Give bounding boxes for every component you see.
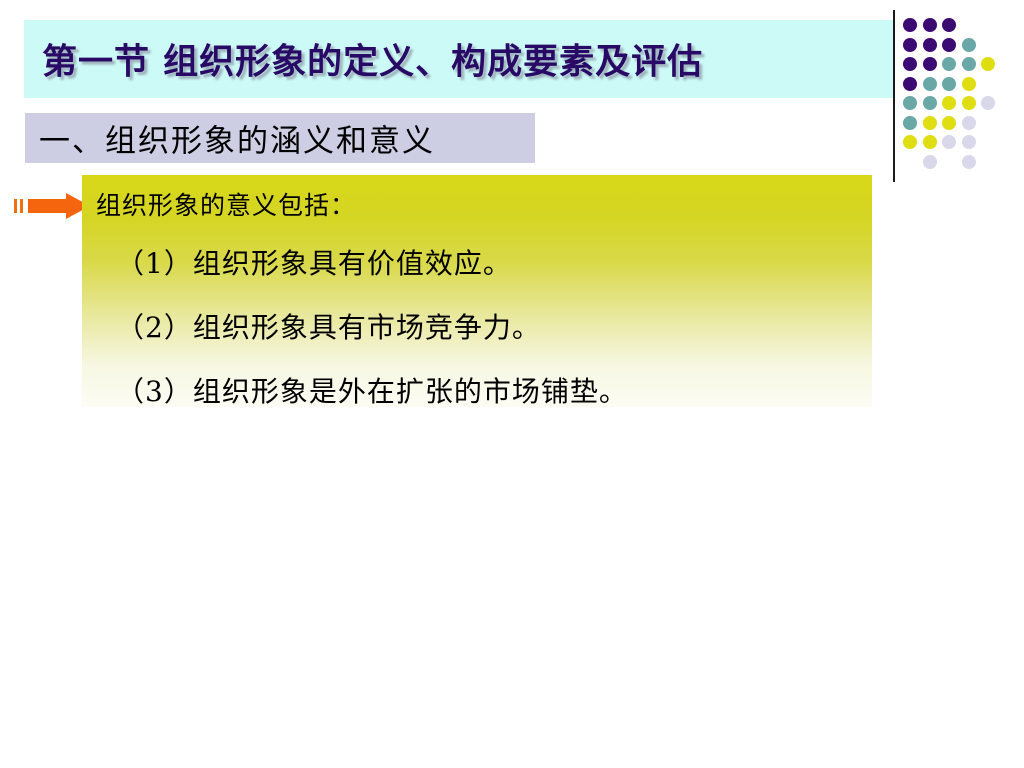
dot-lavender bbox=[962, 135, 976, 149]
orange-arrow-icon bbox=[14, 193, 90, 219]
dot-purple bbox=[903, 18, 917, 32]
dot-yellow bbox=[903, 135, 917, 149]
dot-teal bbox=[903, 96, 917, 110]
dot-lavender bbox=[981, 96, 995, 110]
title-band: 第一节 组织形象的定义、构成要素及评估 bbox=[24, 20, 893, 98]
dot-purple bbox=[903, 38, 917, 52]
dot-yellow bbox=[942, 96, 956, 110]
subtitle-chip: 一、组织形象的涵义和意义 bbox=[25, 113, 535, 163]
content-item-3: （3）组织形象是外在扩张的市场铺垫。 bbox=[96, 373, 872, 411]
dot-lavender bbox=[923, 155, 937, 169]
dot-yellow bbox=[962, 96, 976, 110]
dot-lavender bbox=[962, 155, 976, 169]
content-lines: 组织形象的意义包括： （1）组织形象具有价值效应。 （2）组织形象具有市场竞争力… bbox=[82, 175, 872, 407]
dot-yellow bbox=[942, 116, 956, 130]
dot-yellow bbox=[962, 77, 976, 91]
decorative-dot-grid bbox=[903, 18, 1018, 183]
dot-purple bbox=[923, 18, 937, 32]
dot-purple bbox=[903, 77, 917, 91]
dot-lavender bbox=[962, 116, 976, 130]
content-item-1: （1）组织形象具有价值效应。 bbox=[96, 245, 872, 283]
dot-yellow bbox=[923, 135, 937, 149]
content-panel: 组织形象的意义包括： （1）组织形象具有价值效应。 （2）组织形象具有市场竞争力… bbox=[82, 175, 872, 407]
dot-purple bbox=[903, 57, 917, 71]
dot-teal bbox=[942, 77, 956, 91]
dot-teal bbox=[923, 77, 937, 91]
dot-purple bbox=[942, 18, 956, 32]
content-item-2: （2）组织形象具有市场竞争力。 bbox=[96, 309, 872, 347]
dot-teal bbox=[923, 96, 937, 110]
dot-teal bbox=[942, 57, 956, 71]
dot-purple bbox=[923, 38, 937, 52]
vertical-divider bbox=[893, 10, 895, 182]
dot-purple bbox=[923, 57, 937, 71]
arrow-tick-2 bbox=[20, 199, 23, 213]
dot-yellow bbox=[981, 57, 995, 71]
section-subtitle: 一、组织形象的涵义和意义 bbox=[39, 116, 435, 161]
slide-canvas: 第一节 组织形象的定义、构成要素及评估 一、组织形象的涵义和意义 组织形象的意义… bbox=[0, 0, 1024, 768]
content-heading: 组织形象的意义包括： bbox=[96, 187, 872, 225]
dot-lavender bbox=[942, 135, 956, 149]
dot-teal bbox=[962, 57, 976, 71]
arrow-tick-1 bbox=[14, 199, 17, 213]
dot-yellow bbox=[923, 116, 937, 130]
arrow-shaft bbox=[28, 199, 68, 213]
page-title: 第一节 组织形象的定义、构成要素及评估 bbox=[42, 34, 703, 85]
dot-purple bbox=[942, 38, 956, 52]
dot-teal bbox=[903, 116, 917, 130]
dot-teal bbox=[962, 38, 976, 52]
